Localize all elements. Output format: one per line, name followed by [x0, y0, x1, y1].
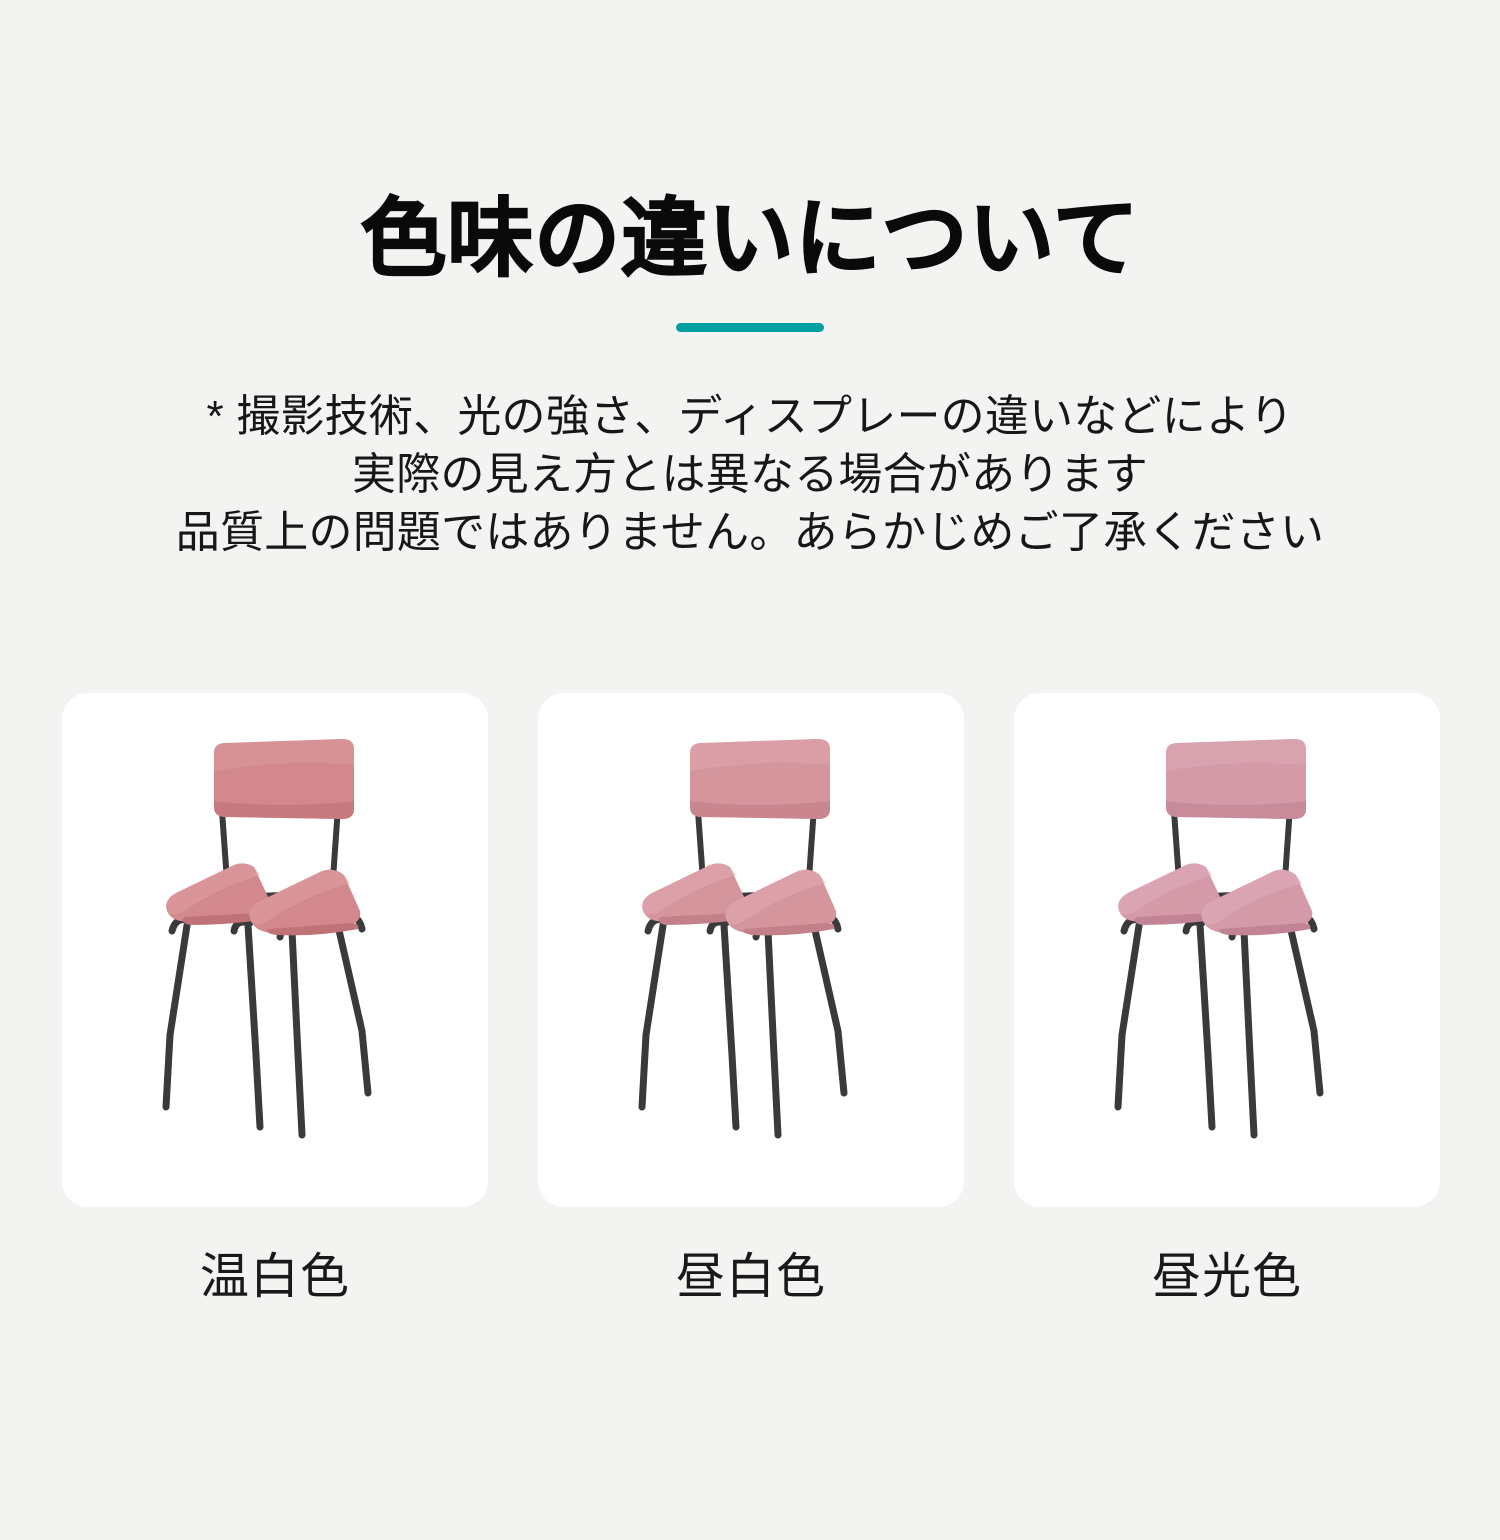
- page-title: 色味の違いについて: [0, 196, 1500, 282]
- heading-block: 色味の違いについて: [0, 0, 1500, 332]
- title-accent-bar: [676, 323, 824, 332]
- chair-photo-neutral-white: [586, 735, 916, 1165]
- swatch-item-neutral-white: 昼白色: [538, 693, 964, 1305]
- swatch-item-daylight: 昼光色: [1014, 693, 1440, 1305]
- chair-photo-warm-white: [110, 735, 440, 1165]
- photo-card[interactable]: [1014, 693, 1440, 1207]
- note-line-1: * 撮影技術、光の強さ、ディスプレーの違いなどにより: [0, 388, 1500, 446]
- note-line-3: 品質上の問題ではありません。あらかじめご了承ください: [0, 504, 1500, 562]
- chair-photo-daylight: [1062, 735, 1392, 1165]
- photo-card[interactable]: [538, 693, 964, 1207]
- swatch-item-warm-white: 温白色: [62, 693, 488, 1305]
- disclaimer-note: * 撮影技術、光の強さ、ディスプレーの違いなどにより 実際の見え方とは異なる場合…: [0, 388, 1500, 562]
- swatch-label: 昼白色: [676, 1251, 826, 1305]
- swatch-label: 温白色: [200, 1251, 350, 1305]
- photo-card[interactable]: [62, 693, 488, 1207]
- color-swatch-grid: 温白色: [62, 693, 1440, 1305]
- swatch-label: 昼光色: [1152, 1251, 1302, 1305]
- note-line-2: 実際の見え方とは異なる場合があります: [0, 446, 1500, 504]
